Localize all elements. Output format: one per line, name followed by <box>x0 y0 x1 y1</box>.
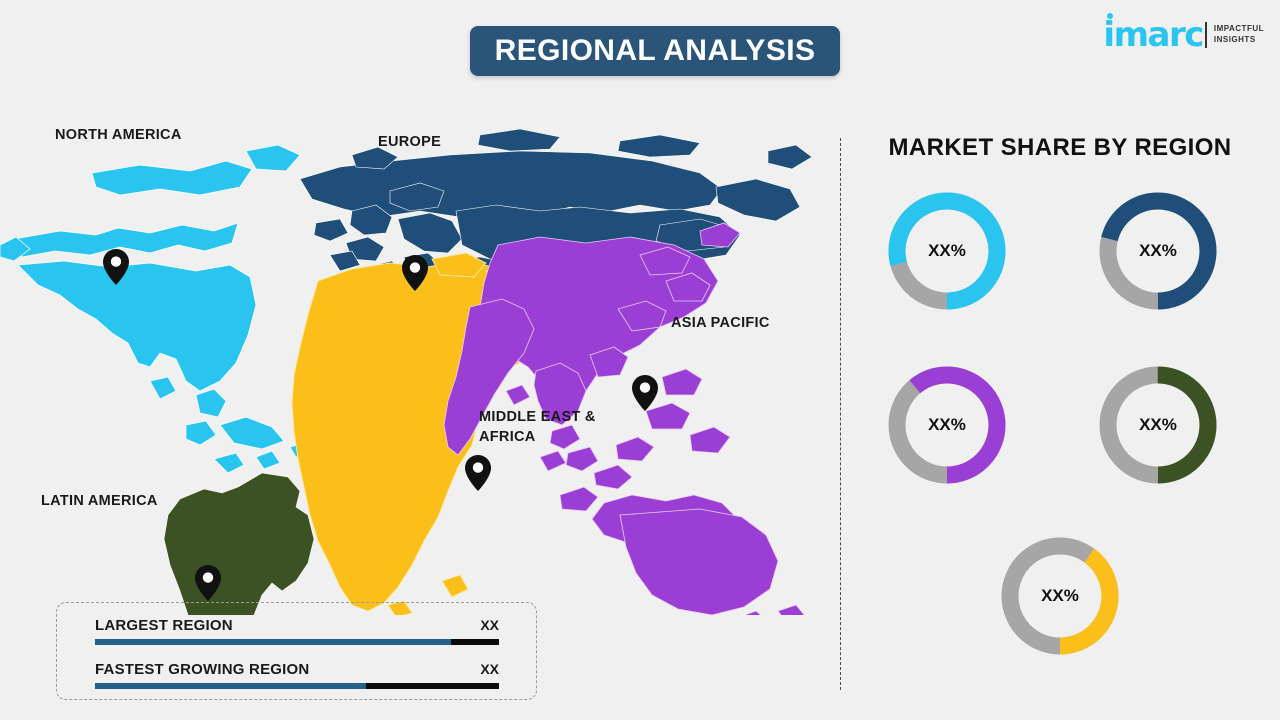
location-pin-icon <box>195 565 221 601</box>
map-pin-north-america[interactable] <box>103 249 129 285</box>
map-region-latin-america[interactable] <box>164 473 314 615</box>
map-pin-middle-east-africa[interactable] <box>465 455 491 491</box>
world-map-svg <box>0 95 820 615</box>
map-pin-asia-pacific[interactable] <box>632 375 658 411</box>
logo-tagline: IMPACTFUL INSIGHTS <box>1214 24 1264 46</box>
legend-box: LARGEST REGION XX FASTEST GROWING REGION… <box>56 602 537 700</box>
infographic-root: REGIONAL ANALYSIS imarc IMPACTFUL INSIGH… <box>0 0 1280 720</box>
map-pin-latin-america[interactable] <box>195 565 221 601</box>
page-title: REGIONAL ANALYSIS <box>495 34 816 68</box>
location-pin-icon <box>465 455 491 491</box>
donut-north-america[interactable]: XX% <box>888 192 1006 310</box>
donut-value-label: XX% <box>1099 192 1217 310</box>
location-pin-icon <box>402 255 428 291</box>
logo-tagline-line2: INSIGHTS <box>1214 35 1264 46</box>
region-label-latin-america: LATIN AMERICA <box>41 492 158 512</box>
donut-latin-america[interactable]: XX% <box>1099 366 1217 484</box>
donut-value-label: XX% <box>1001 537 1119 655</box>
logo-divider <box>1205 22 1207 48</box>
page-title-banner: REGIONAL ANALYSIS <box>470 26 840 76</box>
world-map <box>0 95 820 615</box>
legend-value: XX <box>480 617 499 633</box>
donut-asia-pacific[interactable]: XX% <box>888 366 1006 484</box>
legend-row-header: LARGEST REGION XX <box>95 617 499 634</box>
donut-europe[interactable]: XX% <box>1099 192 1217 310</box>
panel-divider <box>840 138 841 690</box>
legend-bar-track <box>95 683 499 689</box>
logo-tagline-line1: IMPACTFUL <box>1214 24 1264 35</box>
legend-bar-fill <box>95 683 366 689</box>
location-pin-icon <box>103 249 129 285</box>
region-label-middle-east-africa: MIDDLE EAST & AFRICA <box>479 408 629 447</box>
legend-bar-fill <box>95 639 451 645</box>
legend-row-largest-region: LARGEST REGION XX <box>95 617 499 645</box>
legend-row-fastest-growing-region: FASTEST GROWING REGION XX <box>95 661 499 689</box>
legend-row-header: FASTEST GROWING REGION XX <box>95 661 499 678</box>
legend-label: LARGEST REGION <box>95 617 233 634</box>
logo-wordmark-text: imarc <box>1103 15 1202 55</box>
map-pin-europe[interactable] <box>402 255 428 291</box>
market-share-panel-title: MARKET SHARE BY REGION <box>860 134 1260 162</box>
legend-bar-track <box>95 639 499 645</box>
region-label-asia-pacific: ASIA PACIFIC <box>671 314 770 334</box>
location-pin-icon <box>632 375 658 411</box>
donut-middle-east-africa[interactable]: XX% <box>1001 537 1119 655</box>
legend-value: XX <box>480 661 499 677</box>
donut-value-label: XX% <box>888 192 1006 310</box>
brand-logo: imarc IMPACTFUL INSIGHTS <box>1103 18 1264 52</box>
region-label-europe: EUROPE <box>378 133 441 153</box>
region-label-north-america: NORTH AMERICA <box>55 126 182 146</box>
donut-value-label: XX% <box>888 366 1006 484</box>
donut-value-label: XX% <box>1099 366 1217 484</box>
map-region-north-america[interactable] <box>0 145 310 473</box>
legend-label: FASTEST GROWING REGION <box>95 661 309 678</box>
logo-wordmark: imarc <box>1103 18 1202 52</box>
